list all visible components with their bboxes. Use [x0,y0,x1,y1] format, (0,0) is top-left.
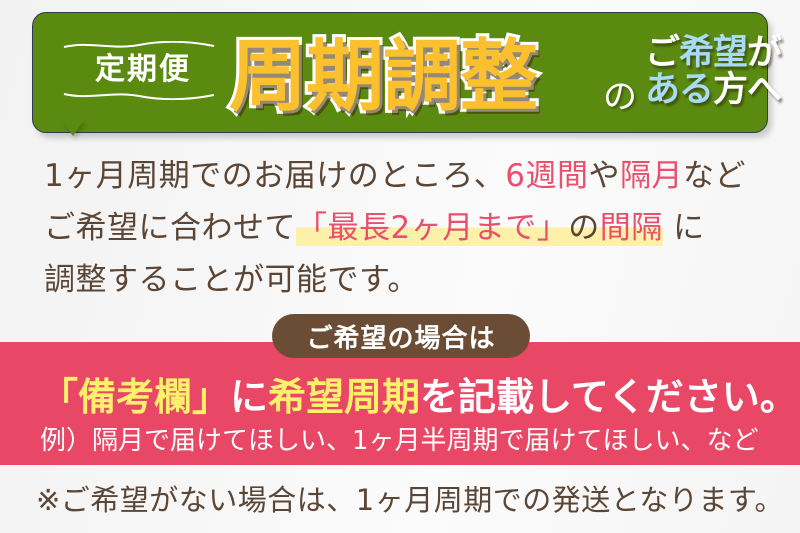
pink-headline-tail: を記載してください。 [420,375,798,419]
body-line1-nado: など [683,158,746,194]
body-line2-max-two-months: 「最長2ヶ月まで」 [296,210,568,246]
pink-headline-remarks-field: 「備考欄」 [40,375,230,419]
speech-bubble-tail-icon [62,120,84,136]
pink-headline-desired-cycle: 希望周期 [268,375,420,419]
pink-headline-ni: に [230,375,268,419]
pink-headline: 「備考欄」に希望周期を記載してください。 [40,366,798,421]
subtitle-aru: ある [645,70,713,110]
subscription-tag-label: 定期便 [63,50,223,91]
body-line-2: ご希望に合わせて「最長2ヶ月まで」の間隔 に [44,202,784,254]
body-line1-every-other-month: 隔月 [620,158,683,194]
body-line-1: 1ヶ月周期でのお届けのところ、6週間や隔月など [44,150,784,202]
body-line2-lead: ご希望に合わせて [44,210,296,246]
body-copy: 1ヶ月周期でのお届けのところ、6週間や隔月など ご希望に合わせて「最長2ヶ月まで… [44,150,784,306]
footnote-text: ※ご希望がない場合は、1ヶ月周期での発送となります。 [36,477,784,519]
banner-subtitle-line-2: ある方へ [645,72,800,109]
pink-callout-band: 「備考欄」に希望周期を記載してください。 例）隔月で届けてほしい、1ヶ月半周期で… [0,342,800,465]
banner-main-title: 周期調整 [229,29,537,127]
subtitle-go: ご [645,33,679,73]
body-line2-interval: 間隔 [600,210,663,246]
request-case-badge-label: ご希望の場合は [306,318,495,355]
subtitle-katahe: 方へ [713,70,781,110]
wave-line-bottom [63,91,215,100]
banner-subtitle: ご希望が ある方へ [645,35,800,109]
body-line1-six-weeks: 6週間 [505,158,588,194]
body-line-3: 調整することが可能です。 [44,254,784,306]
subscription-tag: 定期便 [63,41,223,100]
header-banner: 定期便 周期調整 の ご希望が ある方へ [32,12,768,133]
subtitle-kibou: 希望 [679,33,747,73]
wave-line-top [63,41,215,50]
body-line1-lead: 1ヶ月周期でのお届けのところ、 [44,158,505,194]
body-line2-ni: に [663,210,705,246]
subtitle-ga: が [747,33,781,73]
banner-title-particle: の [603,69,637,118]
pink-example-text: 例）隔月で届けてほしい、1ヶ月半周期で届けてほしい、など [40,420,759,457]
body-line2-no: の [568,210,600,246]
banner-subtitle-line-1: ご希望が [645,35,800,72]
request-case-badge: ご希望の場合は [272,314,530,358]
body-line1-ya: や [588,158,620,194]
